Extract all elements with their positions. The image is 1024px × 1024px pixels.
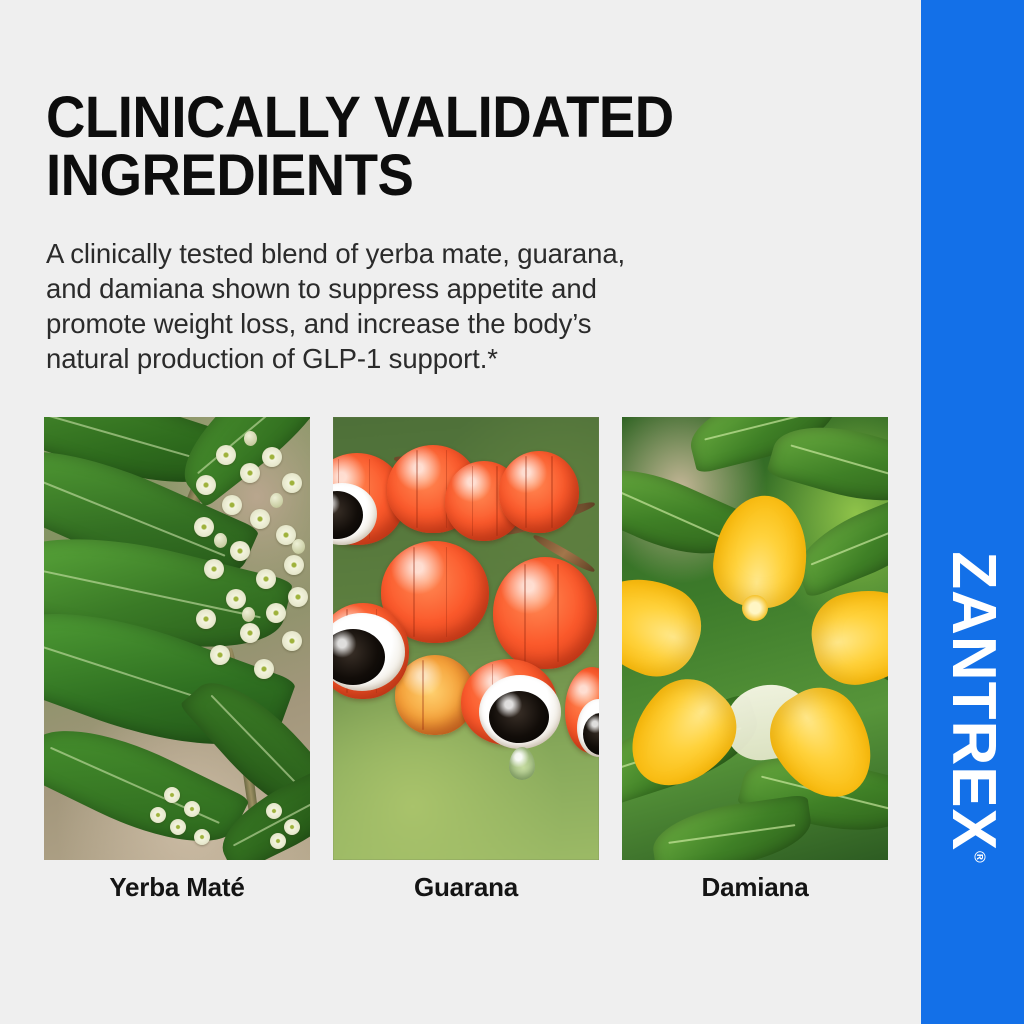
ingredient-photo-guarana	[333, 417, 599, 860]
ingredient-caption-row: Yerba Maté Guarana Damiana	[44, 872, 888, 903]
floret	[194, 829, 210, 845]
flower-bud	[244, 431, 257, 446]
floret	[284, 819, 300, 835]
floret	[254, 659, 274, 679]
brand-name: ZANTREX	[939, 551, 1008, 851]
floret	[210, 645, 230, 665]
floret	[222, 495, 242, 515]
floret	[240, 463, 260, 483]
floret	[270, 833, 286, 849]
floret	[256, 569, 276, 589]
flower-bud	[214, 533, 227, 548]
floret	[184, 801, 200, 817]
brand-sidebar: ZANTREX®	[921, 0, 1024, 1024]
floret	[150, 807, 166, 823]
flower-center	[742, 595, 768, 621]
floret	[164, 787, 180, 803]
floret	[170, 819, 186, 835]
ingredient-photo-row	[44, 417, 888, 860]
floret	[196, 475, 216, 495]
zantrex-logo: ZANTREX®	[942, 551, 1004, 863]
flower-bud	[270, 493, 283, 508]
floret	[282, 473, 302, 493]
floret	[240, 623, 260, 643]
ingredient-photo-yerba-mate	[44, 417, 310, 860]
guarana-seed	[489, 691, 549, 743]
caption-yerba-mate: Yerba Maté	[44, 872, 310, 903]
body-line-4: natural production of GLP-1 support.*	[46, 341, 806, 376]
floret	[282, 631, 302, 651]
guarana-photo	[333, 417, 599, 860]
caption-guarana: Guarana	[333, 872, 599, 903]
flower-bud	[292, 539, 305, 554]
caption-damiana: Damiana	[622, 872, 888, 903]
body-description: A clinically tested blend of yerba mate,…	[46, 236, 806, 376]
floret	[230, 541, 250, 561]
guarana-fruit	[493, 557, 597, 669]
floret	[250, 509, 270, 529]
page-title-line-2: INGREDIENTS	[46, 147, 789, 205]
registered-trademark-icon: ®	[970, 851, 987, 863]
ingredient-photo-damiana	[622, 417, 888, 860]
floret	[204, 559, 224, 579]
body-line-2: and damiana shown to suppress appetite a…	[46, 271, 806, 306]
body-line-3: promote weight loss, and increase the bo…	[46, 306, 806, 341]
flower-bud	[242, 607, 255, 622]
ingredient-infographic: CLINICALLY VALIDATED INGREDIENTS A clini…	[0, 0, 1024, 1024]
body-line-1: A clinically tested blend of yerba mate,…	[46, 236, 806, 271]
guarana-fruit	[499, 451, 579, 533]
floret	[266, 603, 286, 623]
floret	[194, 517, 214, 537]
floret	[262, 447, 282, 467]
floret	[288, 587, 308, 607]
floret	[216, 445, 236, 465]
floret	[266, 803, 282, 819]
water-droplet	[509, 747, 535, 780]
floret	[196, 609, 216, 629]
floret	[284, 555, 304, 575]
page-title: CLINICALLY VALIDATED INGREDIENTS	[46, 89, 789, 205]
yerba-mate-photo	[44, 417, 310, 860]
damiana-photo	[622, 417, 888, 860]
floret	[226, 589, 246, 609]
page-title-line-1: CLINICALLY VALIDATED	[46, 89, 789, 147]
